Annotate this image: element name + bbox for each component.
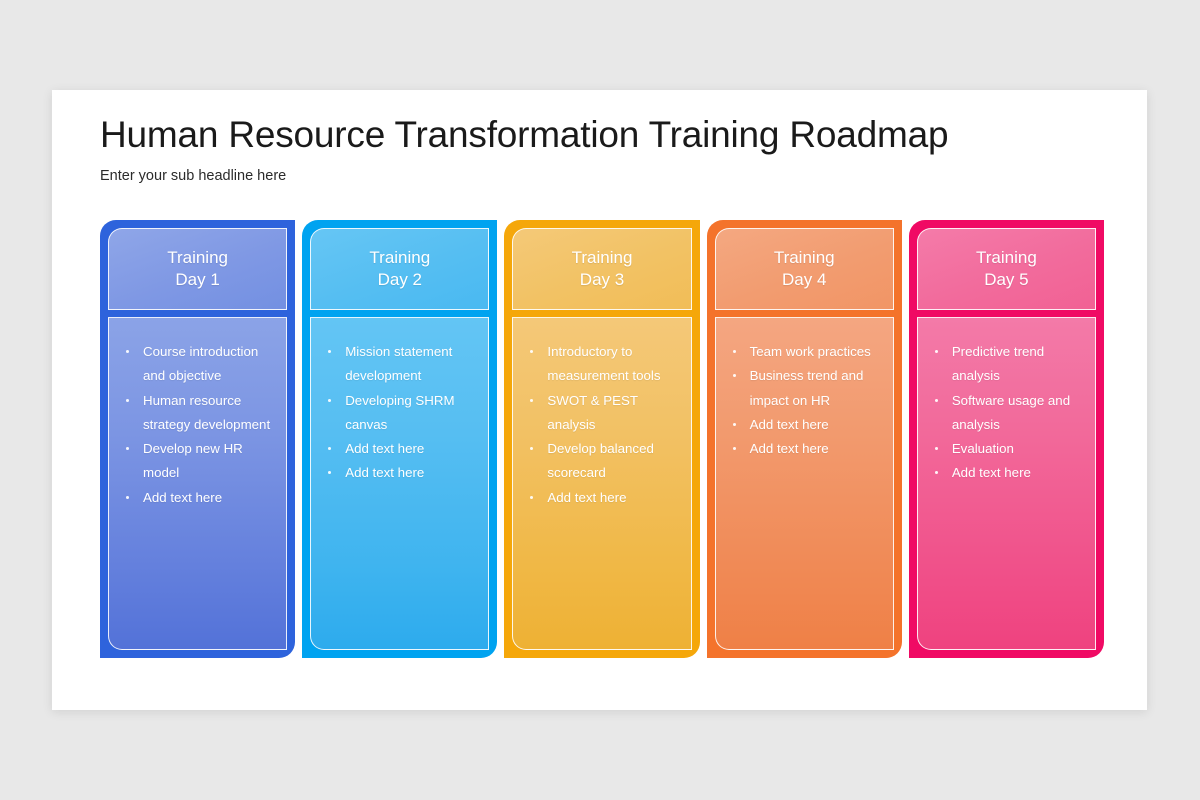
list-item-label: SWOT & PEST analysis	[547, 393, 637, 432]
roadmap-card-row: Training Day 1 Course introduction and o…	[100, 220, 1104, 658]
bullet-dot-icon	[935, 447, 938, 450]
list-item-label: Add text here	[547, 490, 626, 505]
card-header-day-5: Training Day 5	[917, 228, 1096, 310]
list-item-label: Software usage and analysis	[952, 393, 1070, 432]
list-item: Introductory to measurement tools	[521, 340, 680, 389]
list-item: Evaluation	[926, 437, 1085, 461]
bullet-dot-icon	[328, 350, 331, 353]
card-body-day-5: Predictive trend analysis Software usage…	[917, 317, 1096, 650]
bullet-dot-icon	[328, 399, 331, 402]
roadmap-card-day-5[interactable]: Training Day 5 Predictive trend analysis…	[909, 220, 1104, 658]
list-item: Add text here	[926, 461, 1085, 485]
bullet-dot-icon	[935, 350, 938, 353]
roadmap-card-day-1[interactable]: Training Day 1 Course introduction and o…	[100, 220, 295, 658]
card-body-day-3: Introductory to measurement tools SWOT &…	[512, 317, 691, 650]
bullet-list-day-5: Predictive trend analysis Software usage…	[926, 340, 1085, 486]
slide-header: Human Resource Transformation Training R…	[100, 114, 1107, 184]
list-item: Team work practices	[724, 340, 883, 364]
list-item: Add text here	[724, 413, 883, 437]
list-item: Software usage and analysis	[926, 389, 1085, 438]
bullet-dot-icon	[733, 447, 736, 450]
list-item: Add text here	[319, 437, 478, 461]
roadmap-card-day-3[interactable]: Training Day 3 Introductory to measureme…	[504, 220, 699, 658]
list-item: Predictive trend analysis	[926, 340, 1085, 389]
list-item-label: Develop new HR model	[143, 441, 243, 480]
bullet-dot-icon	[530, 447, 533, 450]
list-item-label: Add text here	[750, 441, 829, 456]
list-item-label: Evaluation	[952, 441, 1014, 456]
bullet-list-day-4: Team work practices Business trend and i…	[724, 340, 883, 461]
card-header-day-3: Training Day 3	[512, 228, 691, 310]
bullet-dot-icon	[733, 374, 736, 377]
card-heading-label: Training Day 5	[976, 247, 1037, 291]
list-item-label: Developing SHRM canvas	[345, 393, 454, 432]
bullet-list-day-3: Introductory to measurement tools SWOT &…	[521, 340, 680, 510]
list-item: Human resource strategy development	[117, 389, 276, 438]
list-item-label: Team work practices	[750, 344, 871, 359]
list-item: Business trend and impact on HR	[724, 364, 883, 413]
bullet-dot-icon	[935, 399, 938, 402]
bullet-dot-icon	[530, 399, 533, 402]
card-heading-label: Training Day 2	[369, 247, 430, 291]
roadmap-card-day-2[interactable]: Training Day 2 Mission statement develop…	[302, 220, 497, 658]
bullet-dot-icon	[328, 447, 331, 450]
list-item: Developing SHRM canvas	[319, 389, 478, 438]
bullet-dot-icon	[733, 350, 736, 353]
list-item-label: Develop balanced scorecard	[547, 441, 653, 480]
page-title: Human Resource Transformation Training R…	[100, 114, 1107, 157]
list-item-label: Business trend and impact on HR	[750, 368, 864, 407]
card-body-day-1: Course introduction and objective Human …	[108, 317, 287, 650]
list-item-label: Course introduction and objective	[143, 344, 258, 383]
bullet-dot-icon	[126, 496, 129, 499]
list-item: Add text here	[117, 486, 276, 510]
bullet-list-day-2: Mission statement development Developing…	[319, 340, 478, 486]
list-item-label: Add text here	[345, 465, 424, 480]
card-header-day-4: Training Day 4	[715, 228, 894, 310]
list-item: Mission statement development	[319, 340, 478, 389]
list-item: SWOT & PEST analysis	[521, 389, 680, 438]
list-item-label: Add text here	[143, 490, 222, 505]
list-item: Develop new HR model	[117, 437, 276, 486]
card-heading-label: Training Day 3	[572, 247, 633, 291]
card-header-day-2: Training Day 2	[310, 228, 489, 310]
bullet-dot-icon	[126, 350, 129, 353]
list-item: Add text here	[724, 437, 883, 461]
list-item-label: Introductory to measurement tools	[547, 344, 660, 383]
bullet-list-day-1: Course introduction and objective Human …	[117, 340, 276, 510]
bullet-dot-icon	[328, 471, 331, 474]
list-item: Develop balanced scorecard	[521, 437, 680, 486]
card-body-day-2: Mission statement development Developing…	[310, 317, 489, 650]
slide-canvas: Human Resource Transformation Training R…	[52, 90, 1147, 710]
card-heading-label: Training Day 4	[774, 247, 835, 291]
list-item-label: Add text here	[345, 441, 424, 456]
list-item-label: Mission statement development	[345, 344, 452, 383]
list-item: Course introduction and objective	[117, 340, 276, 389]
card-body-day-4: Team work practices Business trend and i…	[715, 317, 894, 650]
page-subtitle: Enter your sub headline here	[100, 168, 1107, 184]
list-item-label: Predictive trend analysis	[952, 344, 1044, 383]
bullet-dot-icon	[935, 471, 938, 474]
bullet-dot-icon	[126, 399, 129, 402]
card-header-day-1: Training Day 1	[108, 228, 287, 310]
list-item-label: Add text here	[952, 465, 1031, 480]
bullet-dot-icon	[530, 350, 533, 353]
list-item: Add text here	[521, 486, 680, 510]
bullet-dot-icon	[733, 423, 736, 426]
list-item-label: Human resource strategy development	[143, 393, 270, 432]
list-item: Add text here	[319, 461, 478, 485]
card-heading-label: Training Day 1	[167, 247, 228, 291]
bullet-dot-icon	[126, 447, 129, 450]
list-item-label: Add text here	[750, 417, 829, 432]
bullet-dot-icon	[530, 496, 533, 499]
roadmap-card-day-4[interactable]: Training Day 4 Team work practices Busin…	[707, 220, 902, 658]
